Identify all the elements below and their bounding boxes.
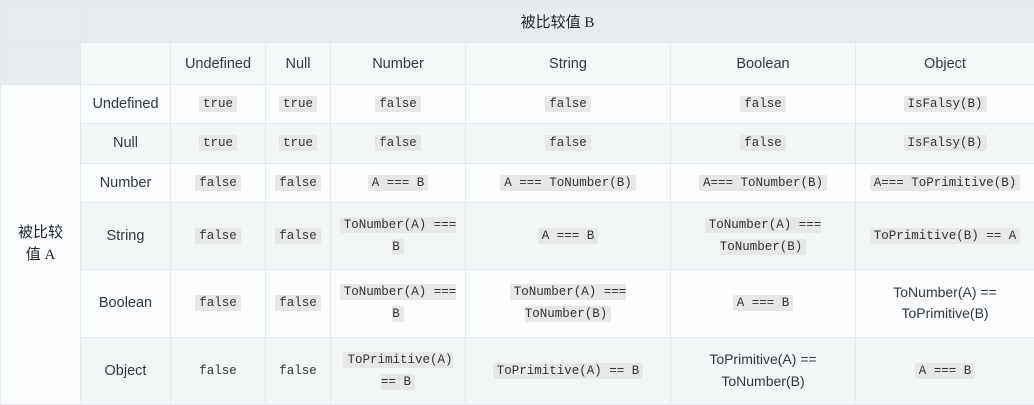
cell-string-undefined: false [171, 202, 266, 269]
cell-value: IsFalsy(B) [904, 96, 987, 112]
cell-value: false [199, 364, 237, 378]
cell-value: IsFalsy(B) [904, 135, 987, 151]
cell-value: A=== ToNumber(B) [699, 175, 827, 191]
cell-value: false [545, 96, 591, 112]
cell-value: A === B [368, 175, 429, 191]
cell-string-string: A === B [466, 202, 671, 269]
column-header-undefined: Undefined [171, 43, 266, 85]
cell-value: false [375, 96, 421, 112]
row-axis-title-line1: 被比较 [18, 225, 63, 241]
cell-value: false [375, 135, 421, 151]
cell-value: A === B [733, 295, 794, 311]
cell-boolean-number: ToNumber(A) === B [331, 270, 466, 337]
row-header-object: Object [81, 337, 171, 404]
cell-value: A === B [915, 363, 976, 379]
cell-undefined-object: IsFalsy(B) [856, 85, 1034, 124]
cell-value: ToPrimitive(A) == B [343, 352, 452, 390]
cell-value: false [195, 295, 241, 311]
cell-string-number: ToNumber(A) === B [331, 202, 466, 269]
cell-boolean-object: ToNumber(A) == ToPrimitive(B) [856, 270, 1034, 337]
cell-value: ToNumber(A) == ToPrimitive(B) [893, 284, 996, 322]
row-axis-title: 被比较 值 A [1, 85, 81, 405]
row-header-boolean: Boolean [81, 270, 171, 337]
cell-null-null: true [266, 124, 331, 163]
table-row: String false false ToNumber(A) === B A =… [1, 202, 1034, 269]
cell-undefined-undefined: true [171, 85, 266, 124]
cell-value: false [275, 175, 321, 191]
cell-null-string: false [466, 124, 671, 163]
cell-number-number: A === B [331, 163, 466, 202]
row-axis-title-line2: 值 A [26, 247, 56, 263]
cell-value: A === ToNumber(B) [500, 175, 636, 191]
table-row: 被比较 值 A Undefined true true false false … [1, 85, 1034, 124]
cell-null-boolean: false [671, 124, 856, 163]
column-header-object: Object [856, 43, 1034, 85]
cell-value: false [195, 175, 241, 191]
cell-value: ToPrimitive(A) == ToNumber(B) [709, 351, 816, 389]
cell-object-string: ToPrimitive(A) == B [466, 337, 671, 404]
cell-value: false [740, 96, 786, 112]
cell-object-boolean: ToPrimitive(A) == ToNumber(B) [671, 337, 856, 404]
cell-boolean-null: false [266, 270, 331, 337]
cell-null-number: false [331, 124, 466, 163]
row-header-string: String [81, 202, 171, 269]
cell-number-string: A === ToNumber(B) [466, 163, 671, 202]
cell-value: A === B [538, 228, 599, 244]
row-label-column-header [81, 43, 171, 85]
type-comparison-table: 被比较值 B Undefined Null Number String Bool… [0, 0, 1034, 405]
cell-null-object: IsFalsy(B) [856, 124, 1034, 163]
column-header-null: Null [266, 43, 331, 85]
cell-string-object: ToPrimitive(B) == A [856, 202, 1034, 269]
table-row: Null true true false false false IsFalsy… [1, 124, 1034, 163]
table-row: Object false false ToPrimitive(A) == B T… [1, 337, 1034, 404]
row-header-number: Number [81, 163, 171, 202]
cell-boolean-undefined: false [171, 270, 266, 337]
cell-object-undefined: false [171, 337, 266, 404]
table-row: Boolean false false ToNumber(A) === B To… [1, 270, 1034, 337]
cell-undefined-null: true [266, 85, 331, 124]
cell-value: true [279, 135, 317, 151]
corner-cell-second [1, 43, 81, 85]
table-row: Number false false A === B A === ToNumbe… [1, 163, 1034, 202]
cell-boolean-boolean: A === B [671, 270, 856, 337]
cell-string-null: false [266, 202, 331, 269]
cell-value: ToPrimitive(B) == A [870, 228, 1021, 244]
row-header-null: Null [81, 124, 171, 163]
column-header-string: String [466, 43, 671, 85]
row-header-undefined: Undefined [81, 85, 171, 124]
cell-boolean-string: ToNumber(A) === ToNumber(B) [466, 270, 671, 337]
column-header-boolean: Boolean [671, 43, 856, 85]
cell-value: false [740, 135, 786, 151]
cell-value: false [195, 228, 241, 244]
header-row-column-types: Undefined Null Number String Boolean Obj… [1, 43, 1034, 85]
cell-value: A=== ToPrimitive(B) [870, 175, 1021, 191]
cell-value: true [199, 96, 237, 112]
cell-undefined-boolean: false [671, 85, 856, 124]
cell-value: false [275, 295, 321, 311]
cell-object-number: ToPrimitive(A) == B [331, 337, 466, 404]
cell-value: true [199, 135, 237, 151]
cell-value: true [279, 96, 317, 112]
cell-number-null: false [266, 163, 331, 202]
cell-value: ToNumber(A) === B [340, 284, 457, 322]
cell-undefined-number: false [331, 85, 466, 124]
cell-string-boolean: ToNumber(A) === ToNumber(B) [671, 202, 856, 269]
cell-undefined-string: false [466, 85, 671, 124]
cell-number-object: A=== ToPrimitive(B) [856, 163, 1034, 202]
cell-null-undefined: true [171, 124, 266, 163]
column-header-number: Number [331, 43, 466, 85]
cell-value: ToPrimitive(A) == B [493, 363, 644, 379]
column-axis-title: 被比较值 B [81, 1, 1034, 43]
corner-cell-top-left [1, 1, 81, 43]
table-header: 被比较值 B Undefined Null Number String Bool… [1, 1, 1034, 85]
cell-value: ToNumber(A) === B [340, 217, 457, 255]
cell-object-null: false [266, 337, 331, 404]
cell-object-object: A === B [856, 337, 1034, 404]
cell-value: false [279, 364, 317, 378]
cell-number-undefined: false [171, 163, 266, 202]
table-body: 被比较 值 A Undefined true true false false … [1, 85, 1034, 405]
cell-value: ToNumber(A) === ToNumber(B) [510, 284, 627, 322]
cell-value: ToNumber(A) === ToNumber(B) [705, 217, 822, 255]
cell-number-boolean: A=== ToNumber(B) [671, 163, 856, 202]
header-row-axis-b: 被比较值 B [1, 1, 1034, 43]
cell-value: false [275, 228, 321, 244]
cell-value: false [545, 135, 591, 151]
